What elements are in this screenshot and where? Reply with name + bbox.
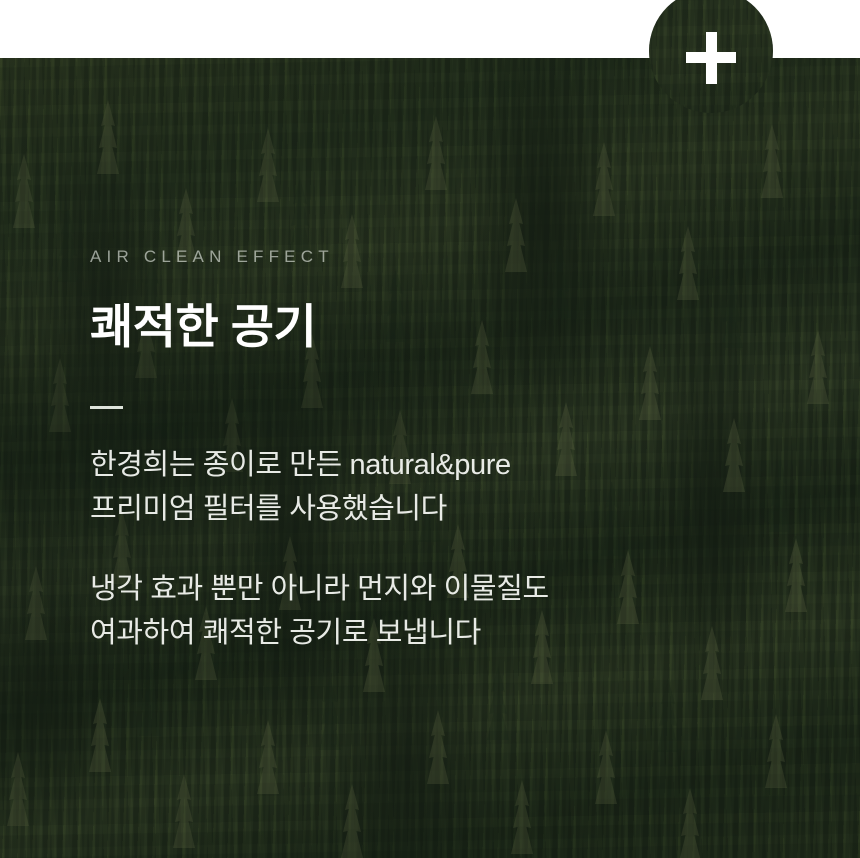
eyebrow-label: AIR CLEAN EFFECT [90, 248, 549, 265]
hero-copy-block: AIR CLEAN EFFECT 쾌적한 공기 한경희는 종이로 만든 natu… [90, 248, 549, 655]
plus-icon-vertical-bar [706, 32, 717, 84]
body-paragraph-1: 한경희는 종이로 만든 natural&pure 프리미엄 필터를 사용했습니다 [90, 409, 549, 531]
plus-icon[interactable] [686, 32, 736, 84]
body-paragraph-2-line-2: 여과하여 쾌적한 공기로 보냅니다 [90, 611, 549, 655]
body-paragraph-1-line-1: 한경희는 종이로 만든 natural&pure [90, 443, 549, 487]
body-paragraph-2: 냉각 효과 뿐만 아니라 먼지와 이물질도 여과하여 쾌적한 공기로 보냅니다 [90, 531, 549, 655]
body-paragraph-1-line-2: 프리미엄 필터를 사용했습니다 [90, 487, 549, 531]
product-detail-page: AIR CLEAN EFFECT 쾌적한 공기 한경희는 종이로 만든 natu… [0, 0, 860, 858]
body-paragraph-2-line-1: 냉각 효과 뿐만 아니라 먼지와 이물질도 [90, 567, 549, 611]
page-title: 쾌적한 공기 [90, 265, 549, 354]
